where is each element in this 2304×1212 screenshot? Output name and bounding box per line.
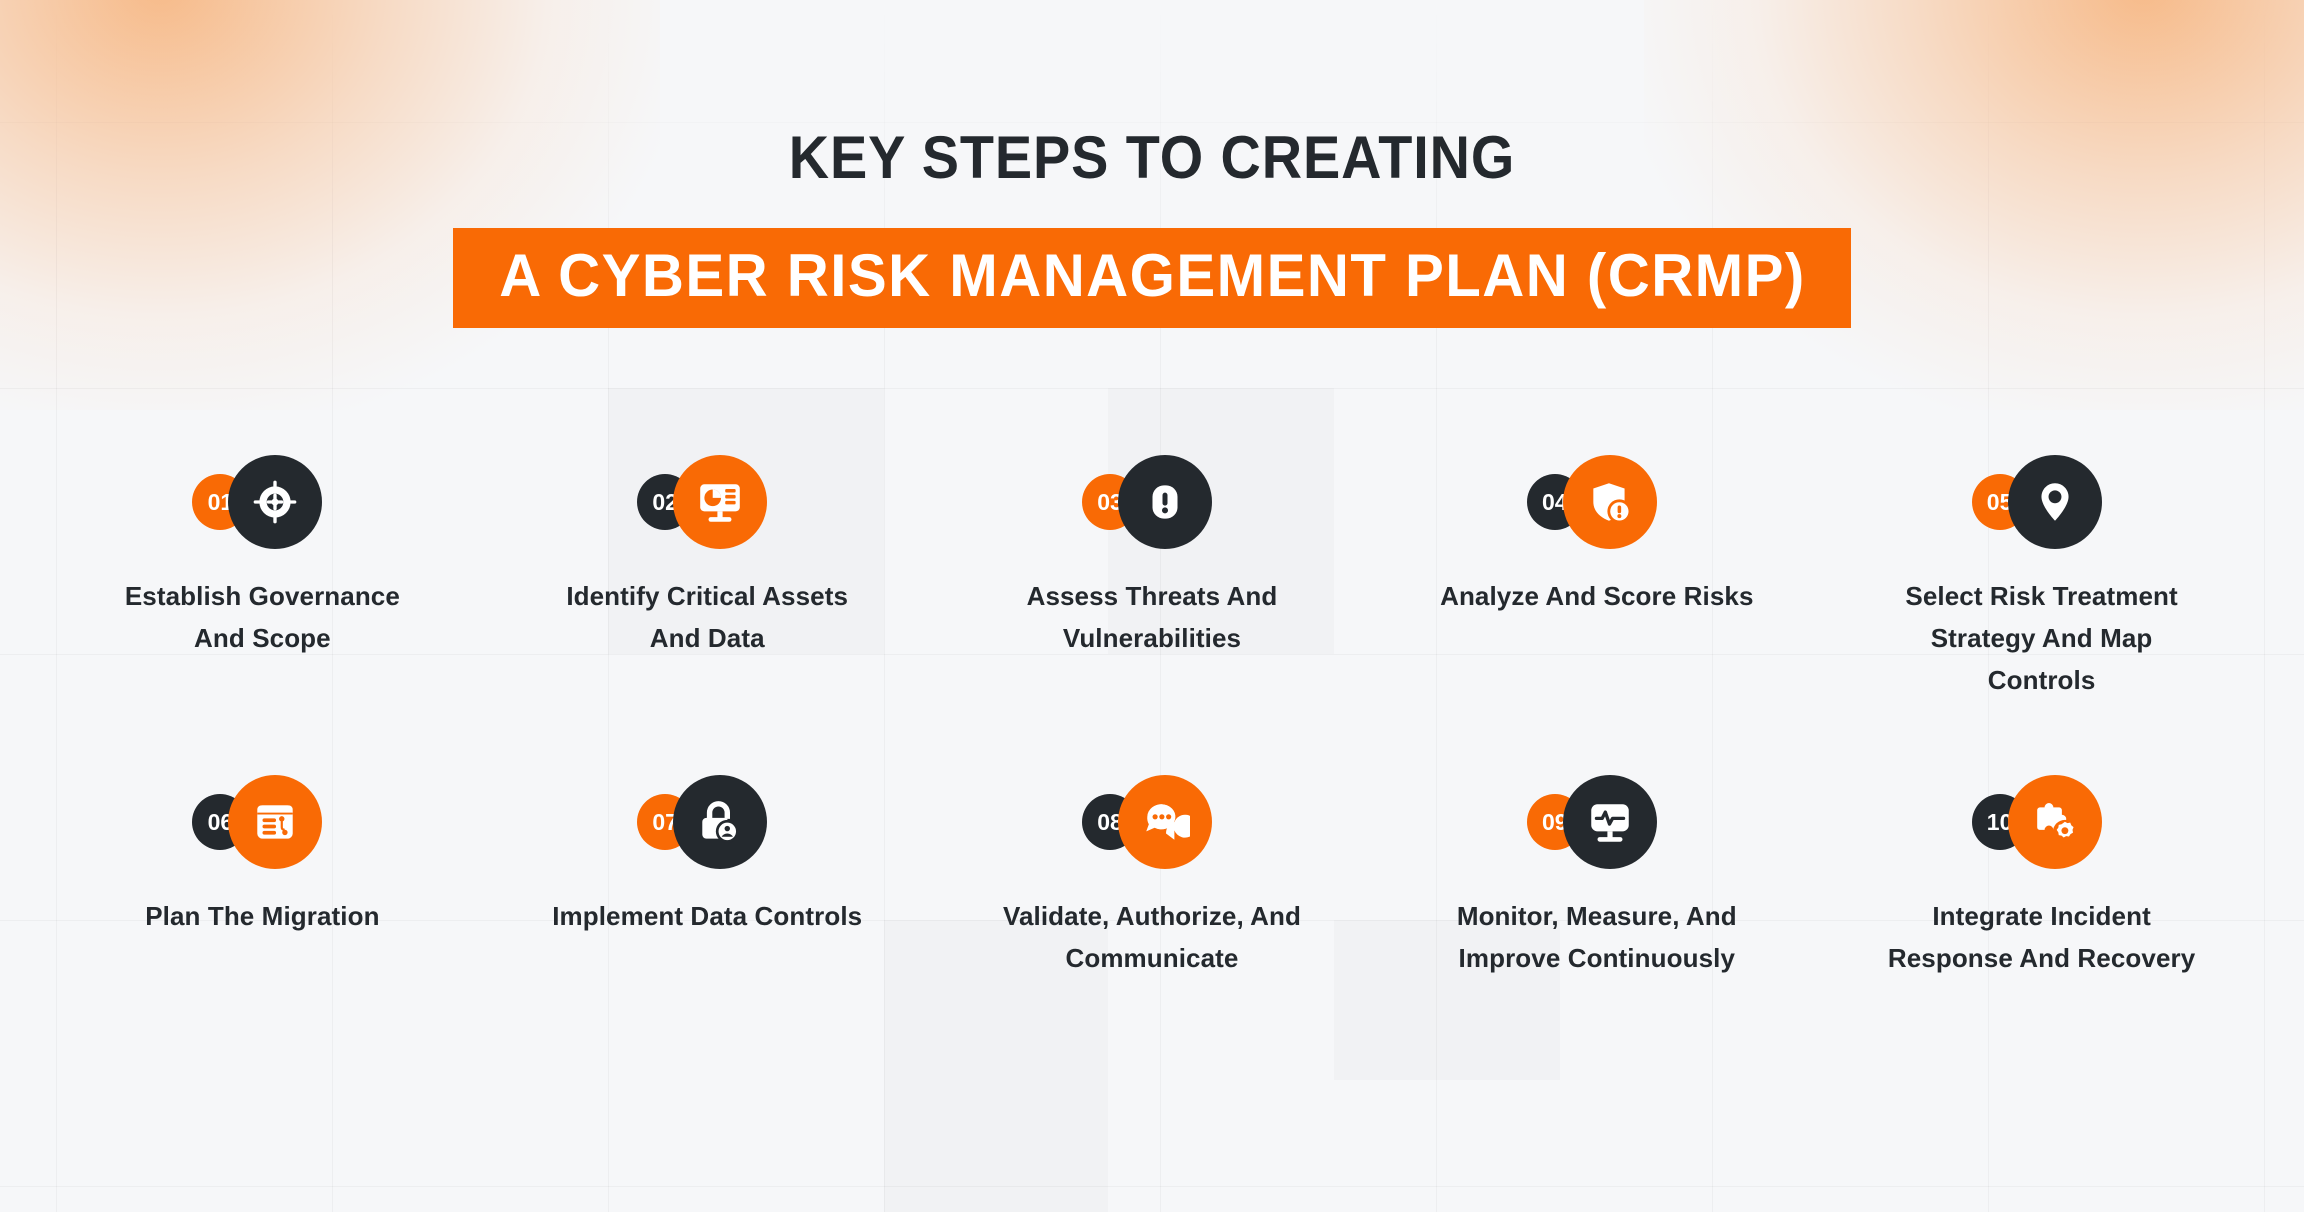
step-item-04[interactable]: 04 Analyze And Score Risks [1374, 455, 1819, 775]
step-icon-group: 04 [1521, 455, 1673, 549]
shield-alert-icon [1585, 477, 1635, 527]
step-label: Analyze And Score Risks [1440, 575, 1753, 617]
monitor-pie-chart-icon [695, 477, 745, 527]
crosshair-target-icon [250, 477, 300, 527]
step-icon-group: 02 [631, 455, 783, 549]
step-icon-group: 08 [1076, 775, 1228, 869]
step-label: Validate, Authorize, And Communicate [987, 895, 1317, 979]
page-title-highlight-bar: A CYBER RISK MANAGEMENT PLAN (CRMP) [453, 228, 1852, 328]
step-label: Identify Critical Assets And Data [542, 575, 872, 659]
step-icon-group: 10 [1966, 775, 2118, 869]
step-item-05[interactable]: 05 Select Risk Treatment Strategy And Ma… [1819, 455, 2264, 775]
step-item-09[interactable]: 09 Monitor, Measure, And Improve Continu… [1374, 775, 1819, 1095]
step-label: Plan The Migration [145, 895, 379, 937]
step-icon-circle [673, 455, 767, 549]
step-label: Monitor, Measure, And Improve Continuous… [1432, 895, 1762, 979]
step-icon-circle [1118, 455, 1212, 549]
step-icon-circle [228, 455, 322, 549]
step-icon-circle [2008, 775, 2102, 869]
step-item-02[interactable]: 02 Identify Critical Assets And D [485, 455, 930, 775]
step-label: Assess Threats And Vulnerabilities [987, 575, 1317, 659]
step-item-06[interactable]: 06 Plan The Migratio [40, 775, 485, 1095]
step-icon-circle [1118, 775, 1212, 869]
steps-grid: 01 Establish Governa [40, 455, 2264, 1095]
chat-bubbles-icon [1140, 797, 1190, 847]
step-icon-circle [673, 775, 767, 869]
page-header: KEY STEPS TO CREATING A CYBER RISK MANAG… [0, 128, 2304, 328]
map-pin-icon [2030, 477, 2080, 527]
step-icon-group: 09 [1521, 775, 1673, 869]
step-label: Implement Data Controls [552, 895, 862, 937]
step-item-03[interactable]: 03 Assess Threats And Vulnerabilities [930, 455, 1375, 775]
step-icon-group: 07 [631, 775, 783, 869]
step-item-08[interactable]: 08 Validate, Authorize, And Communicate [930, 775, 1375, 1095]
step-icon-group: 01 [186, 455, 338, 549]
step-item-01[interactable]: 01 Establish Governa [40, 455, 485, 775]
page-title-highlight-wrap: A CYBER RISK MANAGEMENT PLAN (CRMP) [0, 228, 2304, 328]
monitor-pulse-icon [1585, 797, 1635, 847]
exclamation-alert-icon [1140, 477, 1190, 527]
page-title-line-1: KEY STEPS TO CREATING [81, 128, 2224, 188]
step-icon-group: 05 [1966, 455, 2118, 549]
browser-plan-board-icon [250, 797, 300, 847]
step-icon-circle [2008, 455, 2102, 549]
padlock-user-icon [695, 797, 745, 847]
step-icon-group: 06 [186, 775, 338, 869]
step-label: Establish Governance And Scope [97, 575, 427, 659]
step-label: Integrate Incident Response And Recovery [1877, 895, 2207, 979]
step-icon-circle [228, 775, 322, 869]
step-icon-circle [1563, 775, 1657, 869]
puzzle-gear-icon [2030, 797, 2080, 847]
step-icon-group: 03 [1076, 455, 1228, 549]
step-label: Select Risk Treatment Strategy And Map C… [1877, 575, 2207, 701]
page-title-line-2: A CYBER RISK MANAGEMENT PLAN (CRMP) [499, 246, 1806, 306]
step-item-07[interactable]: 07 Implement Data Controls [485, 775, 930, 1095]
step-icon-circle [1563, 455, 1657, 549]
step-item-10[interactable]: 10 Integrate Incident Response And Recov… [1819, 775, 2264, 1095]
